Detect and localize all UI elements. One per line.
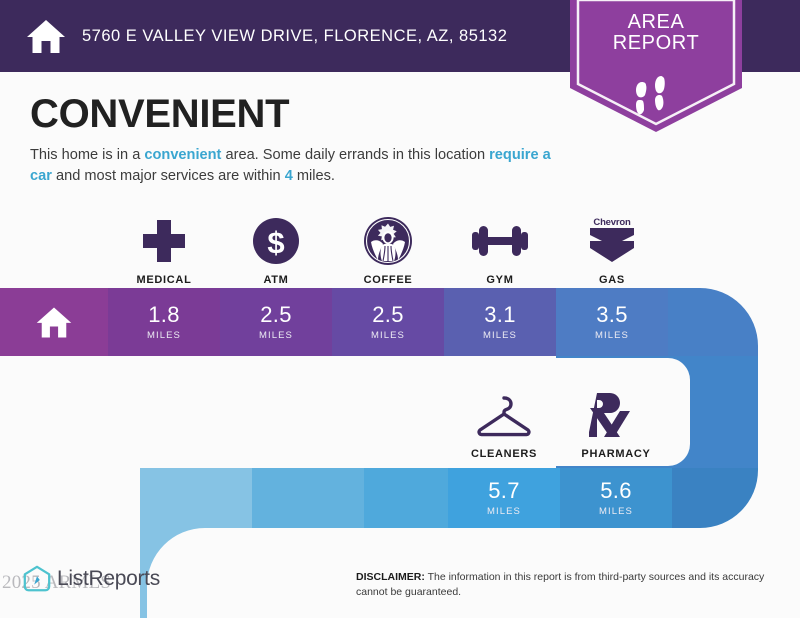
category-label: CLEANERS — [471, 448, 537, 460]
desc-highlight-3: 4 — [285, 168, 293, 184]
category-icon-row-1: MEDICAL $ ATM — [108, 204, 674, 286]
category-gym: GYM — [444, 204, 556, 286]
starbucks-icon — [362, 213, 414, 269]
category-label: PHARMACY — [581, 448, 650, 460]
dumbbell-icon — [470, 213, 530, 269]
distance-cell-pharmacy: 5.6 MILES — [560, 468, 672, 528]
distance-cell-gas: 3.5 MILES — [556, 288, 668, 356]
desc-highlight-1: convenient — [144, 147, 221, 163]
category-icon-row-2: CLEANERS PHARMACY — [448, 380, 676, 460]
dollar-circle-icon: $ — [251, 213, 301, 269]
category-gas: Chevron GAS — [556, 204, 668, 286]
svg-text:$: $ — [267, 225, 284, 260]
category-label: GYM — [486, 274, 513, 286]
distance-cell-cleaners: 5.7 MILES — [448, 468, 560, 528]
chevron-brand-word: Chevron — [593, 218, 630, 228]
distance-cell-coffee: 2.5 MILES — [332, 288, 444, 356]
home-icon — [34, 302, 74, 342]
distance-value: 2.5 — [260, 304, 291, 326]
home-icon — [24, 14, 68, 58]
disclaimer-label: DISCLAIMER: — [356, 571, 425, 583]
property-address: 5760 E VALLEY VIEW DRIVE, FLORENCE, AZ, … — [82, 27, 507, 46]
distance-value: 3.1 — [484, 304, 515, 326]
disclaimer-text: DISCLAIMER: The information in this repo… — [356, 570, 786, 600]
distance-value: 5.6 — [600, 480, 631, 502]
listreports-house-icon — [22, 564, 52, 594]
category-label: COFFEE — [364, 274, 413, 286]
area-report-page: 5760 E VALLEY VIEW DRIVE, FLORENCE, AZ, … — [0, 0, 800, 618]
badge-shield-shape — [570, 0, 742, 136]
distance-unit: MILES — [147, 330, 181, 341]
distance-value: 2.5 — [372, 304, 403, 326]
category-coffee: COFFEE — [332, 204, 444, 286]
distance-unit: MILES — [483, 330, 517, 341]
desc-part-2: area. Some daily errands in this locatio… — [221, 147, 489, 163]
category-medical: MEDICAL — [108, 204, 220, 286]
distance-cell-atm: 2.5 MILES — [220, 288, 332, 356]
category-pharmacy: PHARMACY — [560, 380, 672, 460]
distance-cell-medical: 1.8 MILES — [108, 288, 220, 356]
desc-part-1: This home is in a — [30, 147, 144, 163]
distance-unit: MILES — [487, 506, 521, 517]
page-title: CONVENIENT — [30, 92, 289, 137]
distance-value: 3.5 — [596, 304, 627, 326]
distance-unit: MILES — [595, 330, 629, 341]
area-report-badge: AREA REPORT — [570, 0, 742, 136]
category-cleaners: CLEANERS — [448, 380, 560, 460]
distance-unit: MILES — [259, 330, 293, 341]
listreports-logo: ListReports — [22, 564, 160, 594]
hanger-icon — [474, 387, 534, 443]
desc-part-3: and most major services are within — [52, 168, 285, 184]
category-label: MEDICAL — [136, 274, 191, 286]
chevron-logo-icon: Chevron — [588, 213, 636, 269]
description-text: This home is in a convenient area. Some … — [30, 145, 570, 186]
category-label: GAS — [599, 274, 625, 286]
distance-unit: MILES — [371, 330, 405, 341]
distance-value: 5.7 — [488, 480, 519, 502]
listreports-wordmark: ListReports — [57, 567, 160, 591]
desc-part-4: miles. — [293, 168, 335, 184]
category-label: ATM — [263, 274, 288, 286]
distance-unit: MILES — [599, 506, 633, 517]
medical-cross-icon — [139, 213, 189, 269]
rx-icon — [589, 387, 643, 443]
distance-value: 1.8 — [148, 304, 179, 326]
distance-cell-gym: 3.1 MILES — [444, 288, 556, 356]
category-atm: $ ATM — [220, 204, 332, 286]
ribbon-home-icon-cell — [0, 288, 108, 356]
